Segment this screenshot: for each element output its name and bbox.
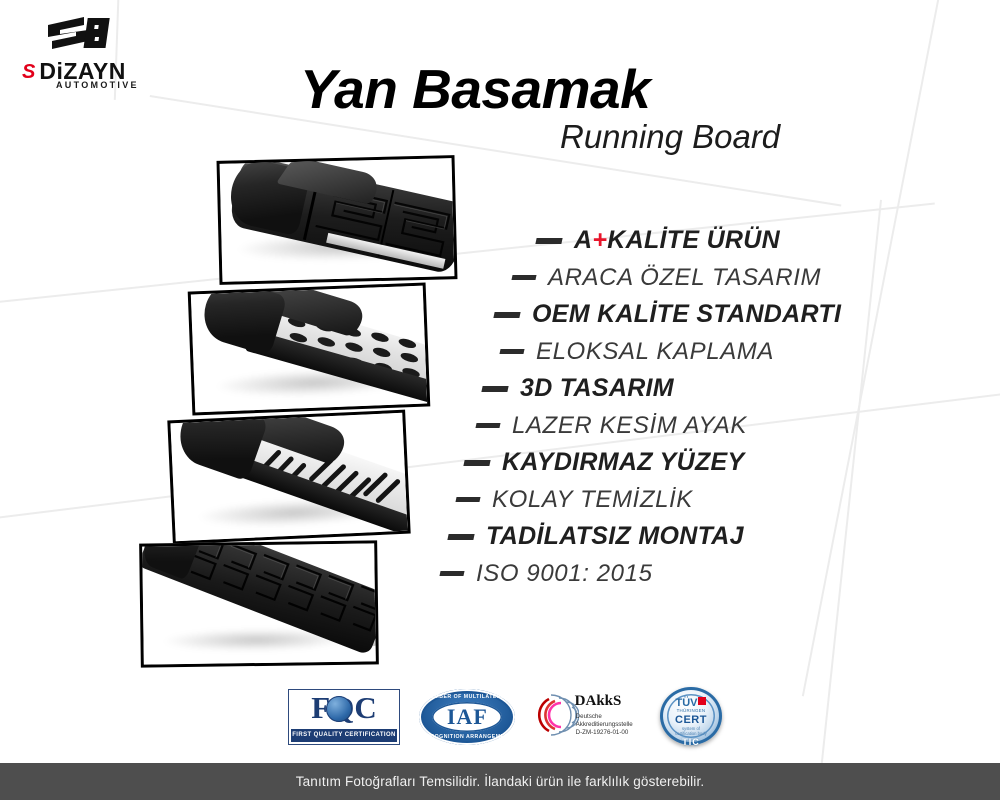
bullet-dash-icon [535, 238, 562, 244]
iaf-bottom-text: RECOGNITION ARRANGEMENT [419, 734, 515, 740]
feature-label: OEM KALİTE STANDARTI [532, 302, 841, 327]
bullet-dash-icon [439, 571, 464, 576]
feature-item: A+KALİTE ÜRÜN [440, 222, 910, 259]
feature-item: 3D TASARIM [440, 370, 910, 407]
bullet-dash-icon [499, 349, 524, 354]
brand-logo-letter: S [22, 62, 34, 82]
product-image-1 [220, 158, 455, 282]
product-image-2 [191, 286, 427, 413]
product-photo-4 [139, 540, 379, 667]
page-subtitle: Running Board [560, 118, 780, 156]
feature-item: KOLAY TEMİZLİK [440, 481, 910, 518]
tuv-region: THÜRINGEN [658, 708, 724, 713]
bullet-dash-icon [463, 460, 490, 466]
poster-canvas: S DiZAYN AUTOMOTIVE Yan Basamak Running … [0, 0, 1000, 800]
iaf-letters: IAF [432, 702, 502, 732]
product-photo-2 [188, 282, 431, 415]
tuv-small-text: system ofcertification body [658, 726, 724, 737]
brand-tagline: AUTOMOTIVE [56, 81, 139, 90]
feature-label: KAYDIRMAZ YÜZEY [502, 450, 744, 475]
product-photo-1 [217, 155, 458, 285]
fqc-certification-logo: FQC FIRST QUALITY CERTIFICATION [288, 689, 400, 745]
bullet-dash-icon [511, 275, 536, 280]
tuv-certification-logo: TÜV THÜRINGEN CERT system ofcertificatio… [658, 686, 728, 748]
feature-item: ISO 9001: 2015 [440, 555, 910, 592]
fqc-caption: FIRST QUALITY CERTIFICATION [291, 729, 397, 742]
bullet-dash-icon [447, 534, 474, 540]
feature-item: ELOKSAL KAPLAMA [440, 333, 910, 370]
dakks-certification-logo: DAkkS Deutsche Akkreditierungsstelle D-Z… [535, 691, 639, 743]
dakks-line-3: D-ZM-19276-01-00 [576, 729, 629, 737]
feature-label: 3D TASARIM [520, 376, 674, 401]
iaf-top-text: MEMBER OF MULTILATERAL [419, 694, 515, 700]
page-title: Yan Basamak [300, 57, 650, 121]
tuv-ring-text: TIC [658, 737, 724, 747]
feature-label: ELOKSAL KAPLAMA [536, 340, 774, 364]
product-image-4 [142, 543, 376, 664]
feature-label: ISO 9001: 2015 [476, 562, 653, 586]
feature-label: ARACA ÖZEL TASARIM [548, 266, 821, 290]
s-logo-icon [44, 14, 116, 58]
bullet-dash-icon [493, 312, 520, 318]
dakks-arcs-icon [535, 693, 579, 737]
feature-item: TADİLATSIZ MONTAJ [440, 518, 910, 555]
brand-logo: S DiZAYN AUTOMOTIVE [22, 14, 152, 90]
footer-disclaimer: Tanıtım Fotoğrafları Temsilidir. İlandak… [296, 774, 705, 789]
feature-item: ARACA ÖZEL TASARIM [440, 259, 910, 296]
bullet-dash-icon [475, 423, 500, 428]
feature-label: LAZER KESİM AYAK [512, 414, 747, 438]
feature-item: KAYDIRMAZ YÜZEY [440, 444, 910, 481]
product-image-3 [170, 413, 407, 541]
feature-label: A+KALİTE ÜRÜN [574, 228, 780, 253]
globe-icon [326, 696, 352, 722]
feature-list: A+KALİTE ÜRÜN ARACA ÖZEL TASARIM OEM KAL… [440, 222, 910, 592]
feature-item: OEM KALİTE STANDARTI [440, 296, 910, 333]
bullet-dash-icon [455, 497, 480, 502]
iaf-certification-logo: MEMBER OF MULTILATERAL IAF RECOGNITION A… [419, 689, 515, 745]
feature-label: KOLAY TEMİZLİK [492, 488, 693, 512]
tuv-red-square-icon [698, 697, 706, 705]
product-photo-3 [167, 410, 410, 545]
dakks-name: DAkkS [575, 694, 622, 709]
feature-label: TADİLATSIZ MONTAJ [486, 524, 744, 549]
bullet-dash-icon [481, 386, 508, 392]
tuv-cert-text: CERT [658, 714, 724, 726]
feature-item: LAZER KESİM AYAK [440, 407, 910, 444]
footer-bar: Tanıtım Fotoğrafları Temsilidir. İlandak… [0, 763, 1000, 800]
certification-badges: FQC FIRST QUALITY CERTIFICATION MEMBER O… [288, 686, 728, 748]
